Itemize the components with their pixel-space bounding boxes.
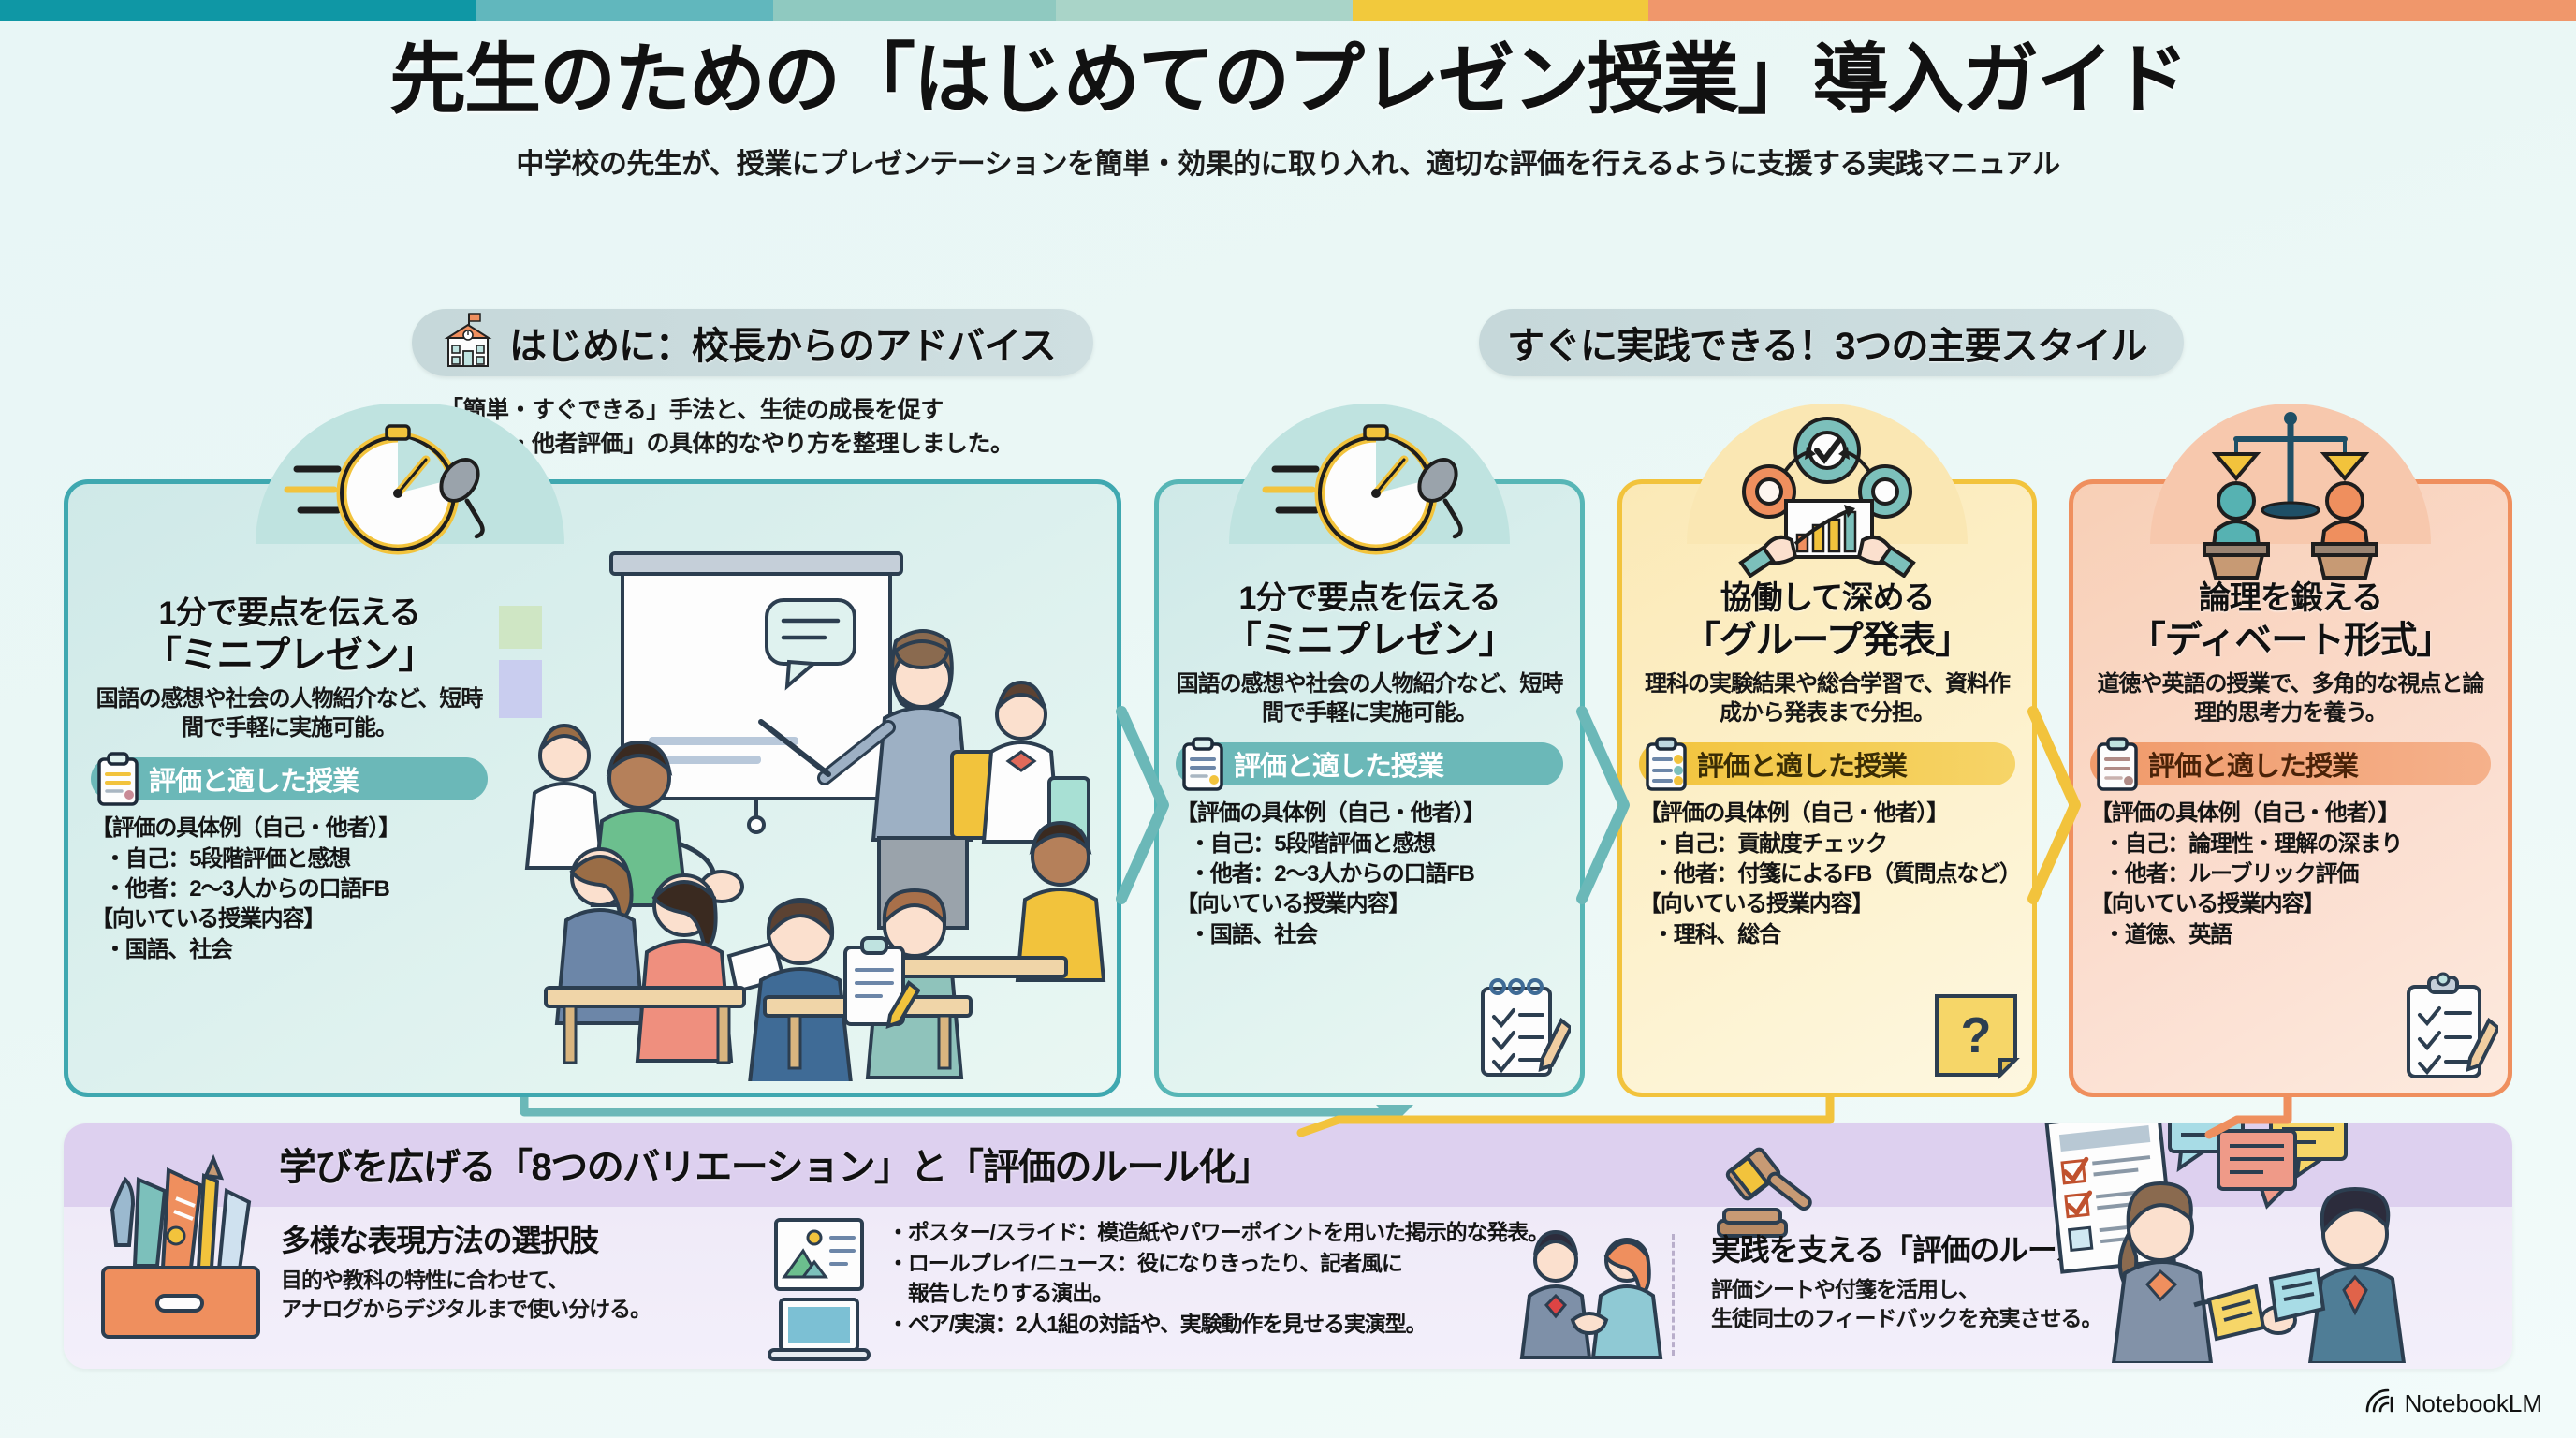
- poster-slide-icon: [773, 1217, 865, 1297]
- style-card-mini-presentation-hero[interactable]: 1分で要点を伝える 「ミニプレゼン」 国語の感想や社会の人物紹介など、短時間で手…: [64, 479, 1121, 1097]
- school-building-icon: [440, 312, 496, 374]
- example-item: ・自己：貢献度チェック: [1639, 829, 2015, 859]
- eval-bar-hero: 評価と適した授業: [91, 756, 488, 802]
- eval-bar-debate-label: 評価と適した授業: [2090, 742, 2491, 785]
- subject-item: ・理科、総合: [1639, 920, 2015, 950]
- clipboard-icon: [1641, 737, 1691, 798]
- topbar-segment-2: [476, 0, 772, 21]
- examples-heading: 【評価の具体例（自己・他者）】: [91, 814, 488, 844]
- subjects-heading: 【向いている授業内容】: [91, 904, 488, 934]
- question-sticky-note-icon: ?: [1929, 989, 2023, 1087]
- card-title-main: 「ミニプレゼン」: [1176, 618, 1563, 663]
- intro-note-line2: 「自己・他者評価」の具体的なやり方を整理しました。: [440, 427, 1151, 461]
- intro-note: 「簡単・すぐできる」手法と、生徒の成長を促す 「自己・他者評価」の具体的なやり方…: [440, 393, 1151, 462]
- example-item: ・他者：ルーブリック評価: [2090, 859, 2491, 889]
- card-title-hero: 1分で要点を伝える 「ミニプレゼン」: [91, 594, 488, 678]
- bottom-left-line1: 目的や教科の特性に合わせて、: [281, 1266, 693, 1295]
- stopwatch-microphone-icon: [1262, 411, 1477, 584]
- examples-heading: 【評価の具体例（自己・他者）】: [1639, 799, 2015, 829]
- gears-chart-hands-icon: [1724, 411, 1930, 582]
- card-title-debate: 論理を鍛える 「ディベート形式」: [2090, 580, 2491, 663]
- handshake-students-icon: [1515, 1228, 1664, 1364]
- topbar-segment-6: [1648, 0, 2576, 21]
- style-card-debate-format[interactable]: 論理を鍛える 「ディベート形式」 道徳や英語の授業で、多角的な視点と論理的思考力…: [2069, 479, 2512, 1097]
- eval-bar-debate: 評価と適した授業: [2090, 741, 2491, 787]
- topbar-segment-1: [0, 0, 476, 21]
- watermark: NotebookLM: [2364, 1387, 2542, 1421]
- bottom-left-block: 多様な表現方法の選択肢 目的や教科の特性に合わせて、 アナログからデジタルまで使…: [281, 1217, 693, 1324]
- card-title-top: 論理を鍛える: [2199, 580, 2382, 616]
- clipboard-icon: [2092, 737, 2143, 798]
- top-color-bar: [0, 0, 2576, 21]
- section-header-intro-label: はじめに：校長からのアドバイス: [509, 315, 1056, 370]
- eval-bar-group: 評価と適した授業: [1639, 741, 2015, 787]
- subjects-heading: 【向いている授業内容】: [1176, 889, 1563, 919]
- page-subtitle: 中学校の先生が、授業にプレゼンテーションを簡単・効果的に取り入れ、適切な評価を行…: [0, 140, 2576, 182]
- example-item: ・自己：5段階評価と感想: [1176, 829, 1563, 859]
- section-header-styles: すぐに実践できる！3つの主要スタイル: [1479, 309, 2184, 376]
- classroom-presentation-illustration: [491, 520, 1109, 1086]
- example-item: ・自己：論理性・理解の深まり: [2090, 829, 2491, 859]
- laptop-icon: [768, 1296, 871, 1369]
- card-list-debate: 【評価の具体例（自己・他者）】 ・自己：論理性・理解の深まり ・他者：ルーブリッ…: [2090, 799, 2491, 950]
- card-title-main: 「グループ発表」: [1639, 618, 2015, 663]
- card-title-top: 協働して深める: [1720, 580, 1935, 616]
- topbar-segment-4: [1056, 0, 1352, 21]
- subject-item: ・国語、社会: [91, 935, 488, 965]
- bottom-left-heading: 多様な表現方法の選択肢: [281, 1217, 693, 1260]
- card-list-group: 【評価の具体例（自己・他者）】 ・自己：貢献度チェック ・他者：付箋によるFB（…: [1639, 799, 2015, 950]
- card-list-hero: 【評価の具体例（自己・他者）】 ・自己：5段階評価と感想 ・他者：2〜3人からの…: [91, 814, 488, 965]
- style-card-mini-presentation[interactable]: 1分で要点を伝える 「ミニプレゼン」 国語の感想や社会の人物紹介など、短時間で手…: [1154, 479, 1585, 1097]
- art-supplies-cup-icon: [90, 1153, 268, 1355]
- card-title-top: 1分で要点を伝える: [1238, 580, 1500, 616]
- example-item: ・他者：2〜3人からの口語FB: [1176, 859, 1563, 889]
- vertical-divider: [1672, 1234, 1675, 1356]
- checklist-pencil-icon: [2397, 970, 2498, 1087]
- card-title-main: 「ミニプレゼン」: [91, 633, 488, 678]
- example-item: ・自己：5段階評価と感想: [91, 844, 488, 874]
- svg-text:?: ?: [1961, 1007, 1992, 1064]
- card-title-group: 協働して深める 「グループ発表」: [1639, 580, 2015, 663]
- bottom-left-line2: アナログからデジタルまで使い分ける。: [281, 1295, 693, 1324]
- topbar-segment-5: [1353, 0, 1648, 21]
- clipboard-icon: [93, 752, 143, 813]
- card-desc-debate: 道徳や英語の授業で、多角的な視点と論理的思考力を養う。: [2090, 670, 2491, 727]
- eval-bar-mini: 評価と適した授業: [1176, 741, 1563, 787]
- eval-bar-mini-label: 評価と適した授業: [1176, 742, 1563, 785]
- stopwatch-microphone-icon: [284, 411, 499, 584]
- subjects-heading: 【向いている授業内容】: [1639, 889, 2015, 919]
- section-header-styles-label: すぐに実践できる！3つの主要スタイル: [1507, 315, 2146, 370]
- card-title-top: 1分で要点を伝える: [158, 595, 419, 631]
- eval-bar-hero-label: 評価と適した授業: [91, 757, 488, 800]
- card-list-mini: 【評価の具体例（自己・他者）】 ・自己：5段階評価と感想 ・他者：2〜3人からの…: [1176, 799, 1563, 950]
- clipboard-icon: [1178, 737, 1228, 798]
- topbar-segment-3: [773, 0, 1057, 21]
- bottom-panel: 学びを広げる「8つのバリエーション」と「評価のルール化」 多様な表現方法の選択肢…: [64, 1123, 2512, 1369]
- style-card-group-presentation[interactable]: 協働して深める 「グループ発表」 理科の実験結果や総合学習で、資料作成から発表ま…: [1617, 479, 2037, 1097]
- header: 先生のための「はじめてのプレゼン授業」導入ガイド 中学校の先生が、授業にプレゼン…: [0, 37, 2576, 182]
- example-item: ・他者：付箋によるFB（質問点など）: [1639, 859, 2015, 889]
- examples-heading: 【評価の具体例（自己・他者）】: [2090, 799, 2491, 829]
- card-desc-mini: 国語の感想や社会の人物紹介など、短時間で手軽に実施可能。: [1176, 670, 1563, 727]
- card-title-mini: 1分で要点を伝える 「ミニプレゼン」: [1176, 580, 1563, 663]
- notebooklm-logo-icon: [2364, 1387, 2395, 1421]
- students-feedback-illustration: [2039, 1123, 2469, 1368]
- checklist-pencil-icon: [836, 934, 920, 1036]
- card-title-main: 「ディベート形式」: [2090, 618, 2491, 663]
- page-title: 先生のための「はじめてのプレゼン授業」導入ガイド: [0, 37, 2576, 124]
- eval-bar-group-label: 評価と適した授業: [1639, 742, 2015, 785]
- intro-note-line1: 「簡単・すぐできる」手法と、生徒の成長を促す: [440, 393, 1151, 427]
- watermark-label: NotebookLM: [2405, 1389, 2542, 1418]
- examples-heading: 【評価の具体例（自己・他者）】: [1176, 799, 1563, 829]
- subjects-heading: 【向いている授業内容】: [2090, 889, 2491, 919]
- bottom-panel-title: 学びを広げる「8つのバリエーション」と「評価のルール化」: [279, 1137, 1270, 1191]
- example-item: ・他者：2〜3人からの口語FB: [91, 874, 488, 904]
- subject-item: ・国語、社会: [1176, 920, 1563, 950]
- checklist-pencil-icon: [1471, 972, 1571, 1087]
- subject-item: ・道徳、英語: [2090, 920, 2491, 950]
- card-desc-group: 理科の実験結果や総合学習で、資料作成から発表まで分担。: [1639, 670, 2015, 727]
- section-header-intro: はじめに：校長からのアドバイス: [412, 309, 1093, 376]
- debate-podium-scales-icon: [2178, 411, 2403, 584]
- card-desc-hero: 国語の感想や社会の人物紹介など、短時間で手軽に実施可能。: [91, 685, 488, 742]
